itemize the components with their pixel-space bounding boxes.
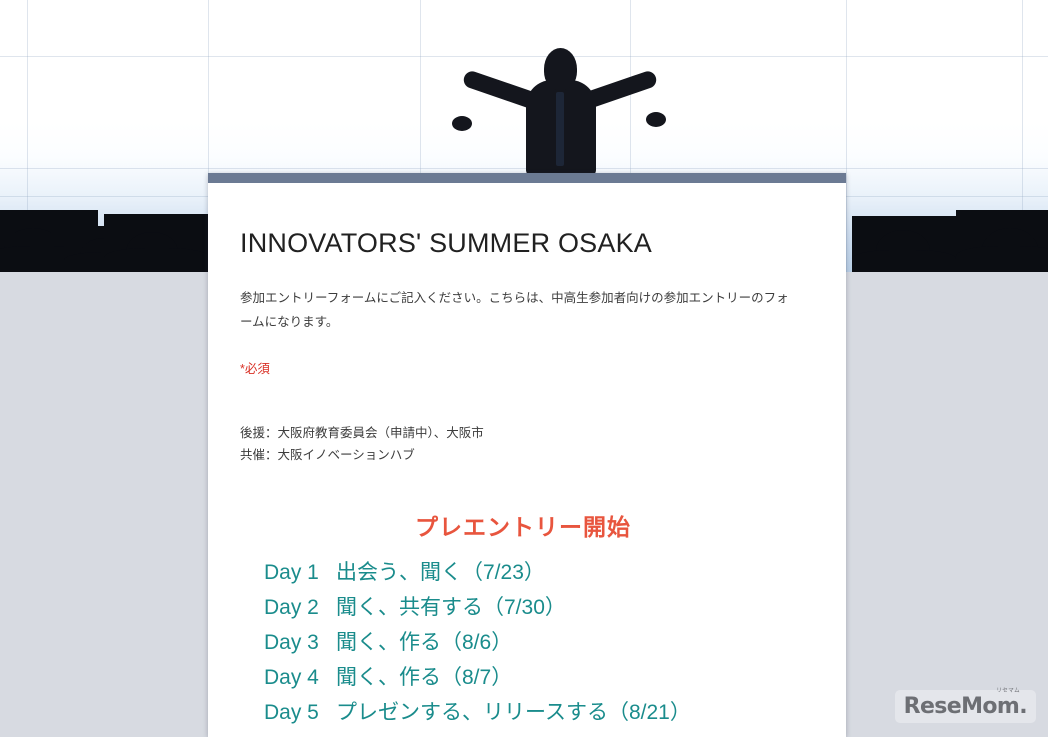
day-label: Day 2 xyxy=(264,591,336,626)
list-item: Day 1出会う、聞く（7/23） xyxy=(240,556,814,591)
card-body: INNOVATORS' SUMMER OSAKA 参加エントリーフォームにご記入… xyxy=(208,183,846,731)
support-line: 後援：大阪府教育委員会（申請中）、大阪市 xyxy=(240,423,814,445)
day-text: 出会う、聞く（7/23） xyxy=(336,561,545,584)
support-organizer-block: 後援：大阪府教育委員会（申請中）、大阪市 共催：大阪イノベーションハブ xyxy=(240,423,814,467)
form-card: INNOVATORS' SUMMER OSAKA 参加エントリーフォームにご記入… xyxy=(208,173,846,737)
schedule-day-list: Day 1出会う、聞く（7/23） Day 2聞く、共有する（7/30） Day… xyxy=(240,556,814,730)
day-text: プレゼンする、リリースする（8/21） xyxy=(336,701,691,724)
list-item: Day 3聞く、作る（8/6） xyxy=(240,626,814,661)
day-text: 聞く、作る（8/7） xyxy=(336,666,512,689)
audience-silhouette xyxy=(852,216,956,272)
form-description: 参加エントリーフォームにご記入ください。こちらは、中高生参加者向けの参加エントリ… xyxy=(240,287,796,333)
day-label: Day 1 xyxy=(264,556,336,591)
required-field-note: *必須 xyxy=(240,358,814,377)
photo-gridline xyxy=(846,0,847,272)
page-title: INNOVATORS' SUMMER OSAKA xyxy=(240,227,814,259)
speaker-silhouette-icon xyxy=(440,32,680,174)
card-top-accent-bar xyxy=(208,173,846,183)
day-text: 聞く、共有する（7/30） xyxy=(336,596,566,619)
audience-silhouette xyxy=(104,214,210,272)
watermark: ReseMom.リセマム xyxy=(895,690,1036,723)
day-label: Day 5 xyxy=(264,696,336,731)
watermark-ruby-text: リセマム xyxy=(996,689,1020,695)
pre-entry-heading: プレエントリー開始 xyxy=(240,508,814,542)
coorganizer-line: 共催：大阪イノベーションハブ xyxy=(240,445,814,467)
watermark-logo-text: ReseMom.リセマム xyxy=(904,696,1027,718)
list-item: Day 2聞く、共有する（7/30） xyxy=(240,591,814,626)
day-label: Day 4 xyxy=(264,661,336,696)
day-text: 聞く、作る（8/6） xyxy=(336,631,512,654)
list-item: Day 5プレゼンする、リリースする（8/21） xyxy=(240,696,814,731)
list-item: Day 4聞く、作る（8/7） xyxy=(240,661,814,696)
day-label: Day 3 xyxy=(264,626,336,661)
audience-silhouette xyxy=(956,210,1048,272)
